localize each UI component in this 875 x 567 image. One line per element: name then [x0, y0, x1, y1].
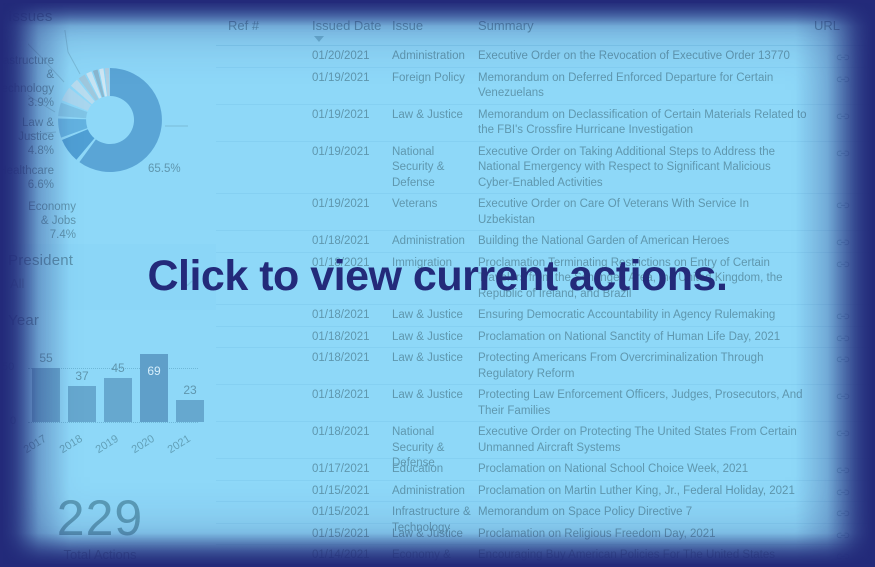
president-filter-value[interactable]: All — [10, 276, 24, 291]
table-row[interactable]: 01/20/2021AdministrationExecutive Order … — [216, 46, 875, 68]
cell-summary: Building the National Garden of American… — [478, 234, 808, 250]
table-row[interactable]: 01/18/2021Law & JusticeProclamation on N… — [216, 327, 875, 349]
cell-issued-date: 01/19/2021 — [312, 71, 388, 87]
bar-value-2021: 23 — [173, 383, 207, 397]
cell-issued-date: 01/18/2021 — [312, 330, 388, 346]
cell-issued-date: 01/19/2021 — [312, 197, 388, 213]
link-icon[interactable] — [836, 235, 850, 245]
table-row[interactable]: 01/19/2021Law & JusticeMemorandum on Dec… — [216, 105, 875, 142]
sort-descending-icon[interactable] — [314, 36, 324, 42]
cell-issued-date: 01/17/2021 — [312, 462, 388, 478]
donut-label-other: 65.5% — [148, 162, 208, 176]
column-header-issued-date[interactable]: Issued Date — [312, 18, 381, 33]
donut-label-law: Law & Justice 4.8% — [0, 116, 54, 158]
cell-issued-date: 01/15/2021 — [312, 484, 388, 500]
link-icon[interactable] — [836, 528, 850, 538]
cell-issued-date: 01/18/2021 — [312, 351, 388, 367]
x-tick-2017[interactable]: 2017 — [22, 433, 49, 456]
total-actions-label: Total Actions — [0, 547, 200, 562]
bar-value-2019: 45 — [101, 361, 135, 375]
y-tick-0: 0 — [10, 415, 16, 427]
link-icon[interactable] — [836, 549, 850, 559]
cell-summary: Protecting Law Enforcement Officers, Jud… — [478, 388, 808, 419]
bar-value-2017: 55 — [29, 351, 63, 365]
chevron-down-icon[interactable] — [182, 280, 193, 287]
cell-summary: Executive Order on the Revocation of Exe… — [478, 49, 808, 65]
link-icon[interactable] — [836, 352, 850, 362]
total-actions-value: 229 — [0, 489, 200, 547]
cell-issued-date: 01/18/2021 — [312, 388, 388, 404]
cell-issue: Law & Justice — [392, 308, 472, 324]
cell-issue: Law & Justice — [392, 388, 472, 404]
bar-value-2020: 69 — [137, 364, 171, 378]
cell-issue: Economy & Jobs — [392, 548, 472, 567]
cell-issued-date: 01/18/2021 — [312, 234, 388, 250]
gridline-0 — [28, 422, 198, 423]
sidebar: Issues — [0, 0, 216, 567]
bar-value-2018: 37 — [65, 369, 99, 383]
cell-summary: Executive Order on Protecting The United… — [478, 425, 808, 456]
link-icon[interactable] — [836, 331, 850, 341]
dashboard-root: Issues — [0, 0, 875, 567]
cell-issue: Immigration — [392, 256, 472, 272]
column-header-summary[interactable]: Summary — [478, 18, 534, 33]
donut-label-healthcare: Healthcare 6.6% — [0, 164, 54, 192]
cell-summary: Proclamation on Religious Freedom Day, 2… — [478, 527, 808, 543]
cell-issued-date: 01/19/2021 — [312, 145, 388, 161]
cell-issued-date: 01/18/2021 — [312, 308, 388, 324]
link-icon[interactable] — [836, 485, 850, 495]
cell-issue: Law & Justice — [392, 108, 472, 124]
issues-panel: Issues — [0, 0, 216, 243]
cell-issue: Law & Justice — [392, 527, 472, 543]
table-row[interactable]: 01/18/2021ImmigrationProclamation Termin… — [216, 253, 875, 306]
cell-issued-date: 01/20/2021 — [312, 49, 388, 65]
year-bar-chart[interactable]: 50 0 55 37 45 69 23 2017 2018 2019 2020 … — [0, 334, 216, 474]
actions-table: Ref # Issued Date Issue Summary URL 01/2… — [216, 0, 875, 567]
cell-issue: Administration — [392, 49, 472, 65]
link-icon[interactable] — [836, 389, 850, 399]
cell-issue: Education — [392, 462, 472, 478]
president-filter-title: President — [0, 252, 73, 269]
table-row[interactable]: 01/15/2021Law & JusticeProclamation on R… — [216, 524, 875, 546]
x-tick-2019[interactable]: 2019 — [94, 433, 121, 456]
cell-summary: Memorandum on Deferred Enforced Departur… — [478, 71, 808, 102]
cell-issued-date: 01/18/2021 — [312, 256, 388, 272]
table-row[interactable]: 01/19/2021VeteransExecutive Order on Car… — [216, 194, 875, 231]
cell-issued-date: 01/15/2021 — [312, 527, 388, 543]
bar-2017[interactable] — [32, 368, 60, 422]
total-actions-panel: 229 Total Actions — [0, 481, 216, 567]
bar-2019[interactable] — [104, 378, 132, 422]
table-row[interactable]: 01/17/2021EducationProclamation on Natio… — [216, 459, 875, 481]
link-icon[interactable] — [836, 109, 850, 119]
column-header-issue[interactable]: Issue — [392, 18, 423, 33]
table-row[interactable]: 01/19/2021National Security & DefenseExe… — [216, 142, 875, 195]
x-tick-2020[interactable]: 2020 — [130, 433, 157, 456]
table-row[interactable]: 01/15/2021Infrastructure & TechnologyMem… — [216, 502, 875, 524]
cell-summary: Proclamation on National School Choice W… — [478, 462, 808, 478]
column-header-url[interactable]: URL — [814, 18, 840, 33]
x-tick-2018[interactable]: 2018 — [58, 433, 85, 456]
cell-summary: Executive Order on Taking Additional Ste… — [478, 145, 808, 192]
table-row[interactable]: 01/18/2021AdministrationBuilding the Nat… — [216, 231, 875, 253]
cell-summary: Memorandum on Space Policy Directive 7 — [478, 505, 808, 521]
cell-issued-date: 01/14/2021 — [312, 548, 388, 564]
link-icon[interactable] — [836, 257, 850, 267]
year-panel-title: Year — [0, 312, 39, 329]
year-panel: Year 50 0 55 37 45 69 23 2017 2018 2019 — [0, 310, 216, 480]
table-row[interactable]: 01/18/2021Law & JusticeEnsuring Democrat… — [216, 305, 875, 327]
cell-summary: Proclamation Terminating Restrictions on… — [478, 256, 808, 303]
cell-summary: Memorandum on Declassification of Certai… — [478, 108, 808, 139]
donut-label-infrastructure: Infrastructure & Technology 3.9% — [0, 54, 54, 110]
link-icon[interactable] — [836, 309, 850, 319]
cell-summary: Proclamation on National Sanctity of Hum… — [478, 330, 808, 346]
link-icon[interactable] — [836, 72, 850, 82]
table-header-row: Ref # Issued Date Issue Summary URL — [216, 18, 875, 46]
issues-donut-chart[interactable]: Infrastructure & Technology 3.9% Law & J… — [0, 24, 216, 224]
link-icon[interactable] — [836, 426, 850, 436]
cell-issue: Administration — [392, 234, 472, 250]
cell-issued-date: 01/19/2021 — [312, 108, 388, 124]
cell-summary: Encouraging Buy American Policies For Th… — [478, 548, 808, 567]
cell-issue: Veterans — [392, 197, 472, 213]
cell-issue: Law & Justice — [392, 351, 472, 367]
link-icon[interactable] — [836, 198, 850, 208]
cell-summary: Protecting Americans From Overcriminaliz… — [478, 351, 808, 382]
y-tick-50: 50 — [2, 361, 14, 373]
table-row[interactable]: 01/18/2021National Security & DefenseExe… — [216, 422, 875, 459]
president-filter-panel: President All — [0, 244, 216, 310]
link-icon[interactable] — [836, 463, 850, 473]
cell-issue: National Security & Defense — [392, 145, 472, 192]
cell-issue: Administration — [392, 484, 472, 500]
cell-issued-date: 01/15/2021 — [312, 505, 388, 521]
link-icon[interactable] — [836, 50, 850, 60]
cell-summary: Proclamation on Martin Luther King, Jr.,… — [478, 484, 808, 500]
cell-summary: Ensuring Democratic Accountability in Ag… — [478, 308, 808, 324]
x-tick-2021[interactable]: 2021 — [166, 433, 193, 456]
column-header-ref[interactable]: Ref # — [228, 18, 259, 33]
table-row[interactable]: 01/18/2021Law & JusticeProtecting Americ… — [216, 348, 875, 385]
table-row[interactable]: 01/15/2021AdministrationProclamation on … — [216, 481, 875, 503]
issues-panel-title: Issues — [0, 8, 53, 25]
cell-issue: Law & Justice — [392, 330, 472, 346]
link-icon[interactable] — [836, 506, 850, 516]
cell-issue: Foreign Policy — [392, 71, 472, 87]
bar-2018[interactable] — [68, 386, 96, 422]
bar-2021[interactable] — [176, 400, 204, 422]
cell-issued-date: 01/18/2021 — [312, 425, 388, 441]
link-icon[interactable] — [836, 146, 850, 156]
cell-summary: Executive Order on Care Of Veterans With… — [478, 197, 808, 228]
donut-label-economy: Economy & Jobs 7.4% — [0, 200, 76, 242]
table-row[interactable]: 01/14/2021Economy & JobsEncouraging Buy … — [216, 545, 875, 567]
table-row[interactable]: 01/19/2021Foreign PolicyMemorandum on De… — [216, 68, 875, 105]
table-row[interactable]: 01/18/2021Law & JusticeProtecting Law En… — [216, 385, 875, 422]
table-body: 01/20/2021AdministrationExecutive Order … — [216, 46, 875, 551]
